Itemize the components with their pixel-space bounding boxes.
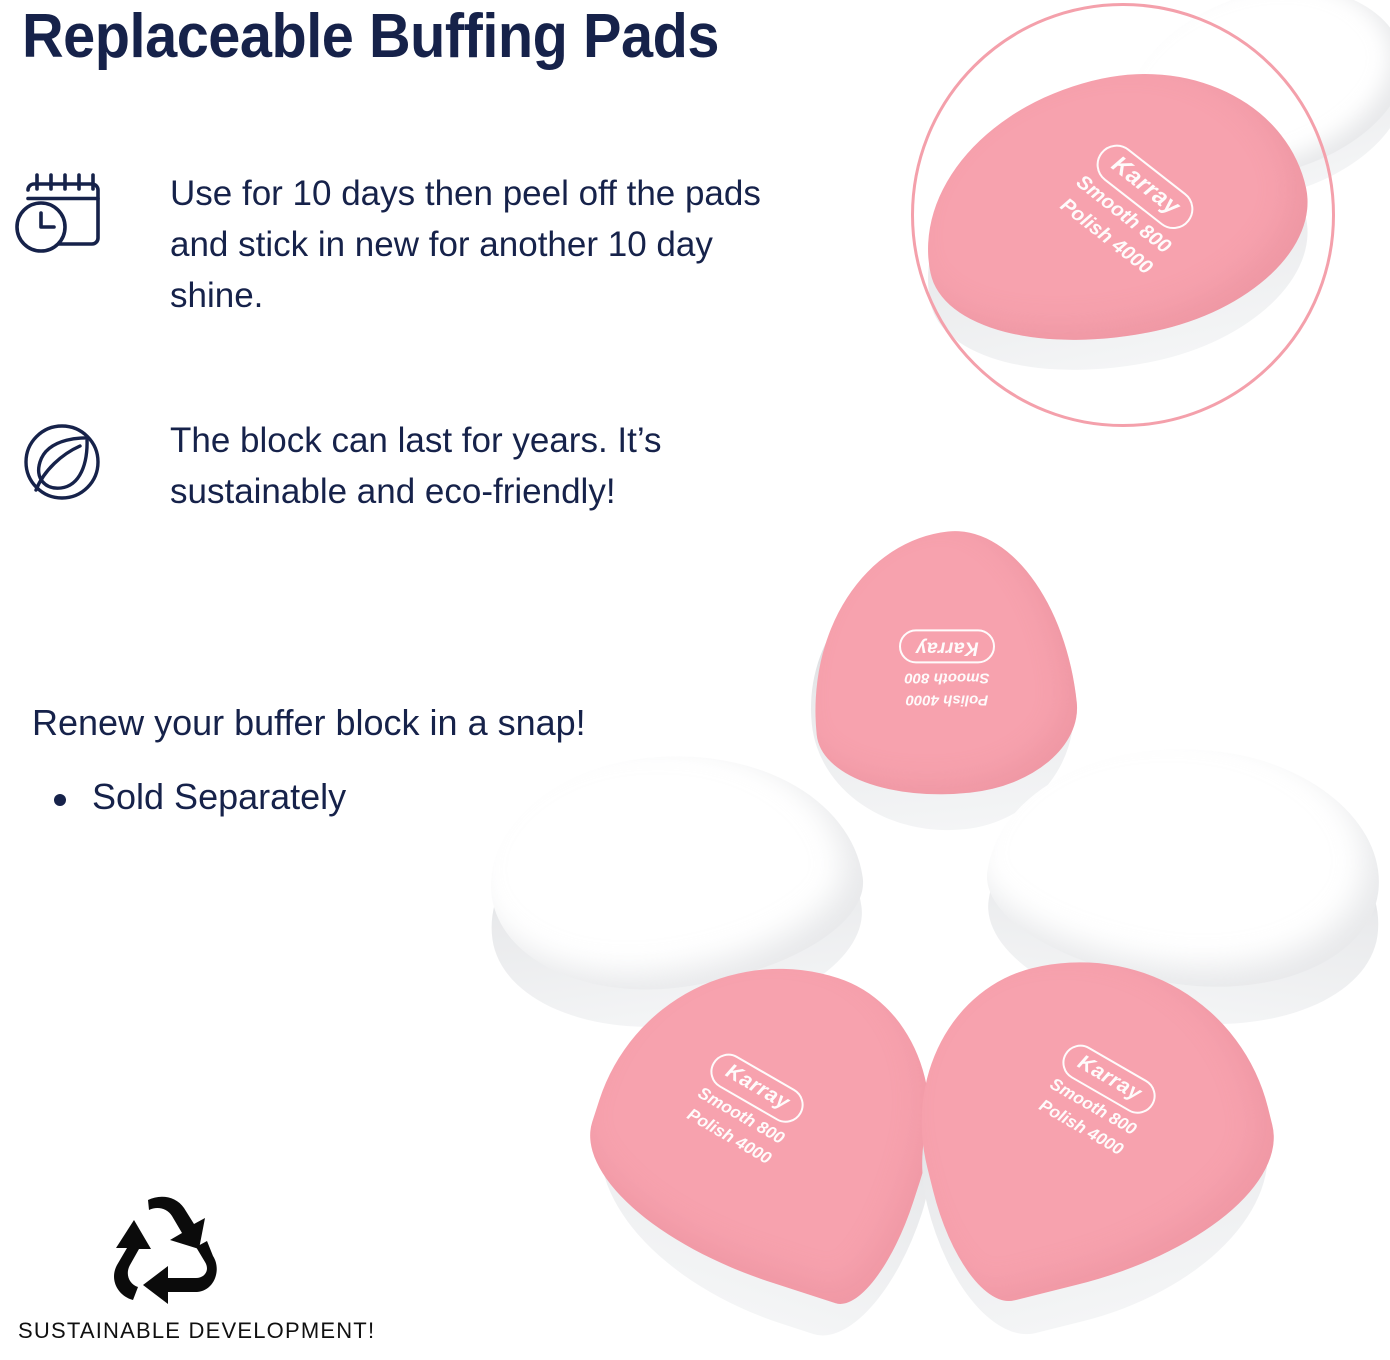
feature-row-2: The block can last for years. It’s susta… [14,412,770,517]
feature-text-2: The block can last for years. It’s susta… [170,415,770,517]
flower-bottom-right-pad: Karray Smooth 800 Polish 4000 [910,950,1290,1330]
feature-row-1: Use for 10 days then peel off the pads a… [14,165,770,321]
footer-caption: SUSTAINABLE DEVELOPMENT! [18,1318,375,1344]
calendar-clock-icon [14,165,114,265]
page-title: Replaceable Buffing Pads [22,2,719,72]
callout-zoom-group: Karray Smooth 800 Polish 4000 [905,0,1390,435]
zoom-callout-ring [911,3,1335,427]
eco-leaf-icon [14,412,114,512]
renew-bullet-list: Sold Separately [40,772,346,822]
pad-flower-group: Polish 4000 Smooth 800 Karray Karray Smo… [470,525,1390,1325]
infographic-canvas: Replaceable Buffing Pads Use for 10 days… [0,0,1390,1360]
recycle-icon [104,1192,224,1304]
feature-text-1: Use for 10 days then peel off the pads a… [170,168,770,321]
flower-bottom-left-pad: Karray Smooth 800 Polish 4000 [592,955,962,1325]
list-item: Sold Separately [40,772,346,822]
